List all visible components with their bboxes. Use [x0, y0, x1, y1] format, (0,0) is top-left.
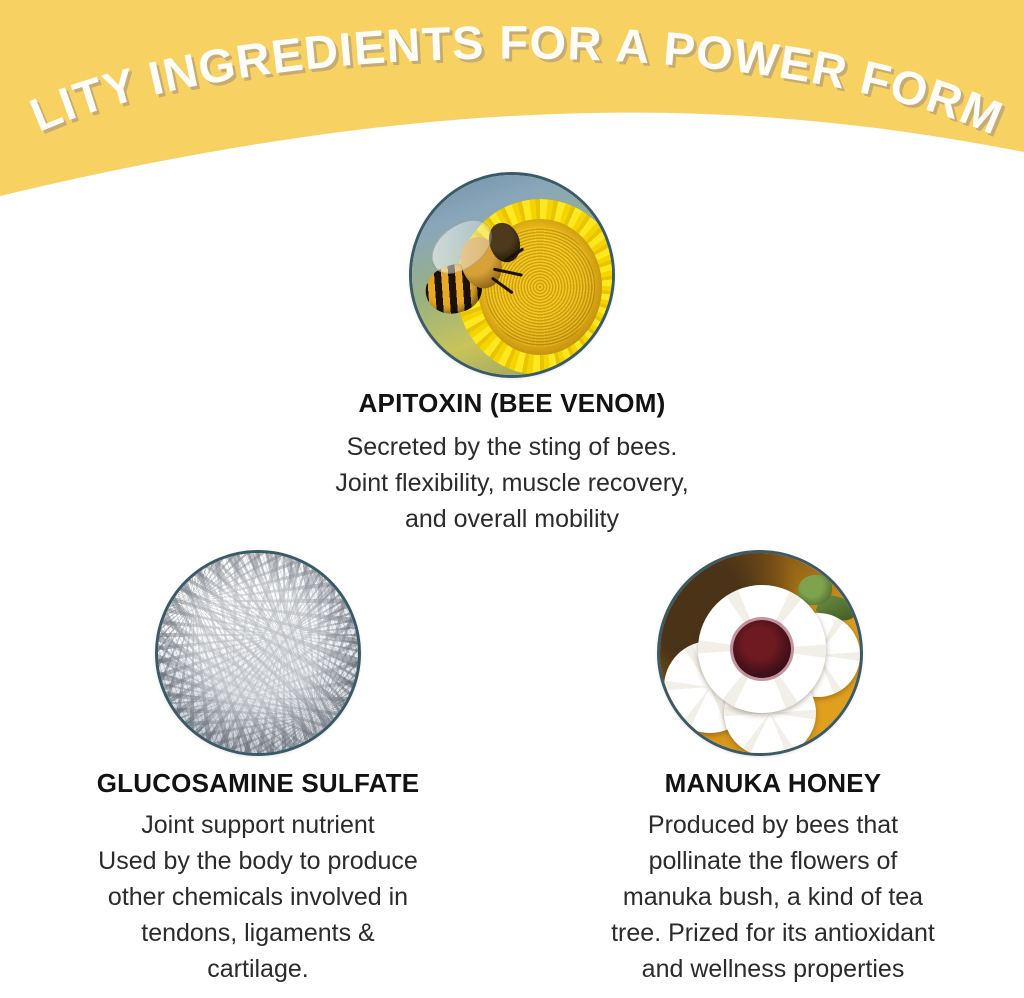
ingredients-infographic: QUALITY INGREDIENTS FOR A POWER FORMULA …: [0, 0, 1024, 998]
apitoxin-image-circle: [409, 172, 615, 378]
glucosamine-description: Joint support nutrient Used by the body …: [10, 807, 506, 987]
description-line: Joint support nutrient: [10, 807, 506, 843]
manuka-title: MANUKA HONEY: [525, 768, 1021, 799]
description-line: Joint flexibility, muscle recovery,: [262, 465, 762, 501]
description-line: tendons, ligaments &: [10, 915, 506, 951]
description-line: Produced by bees that: [525, 807, 1021, 843]
manuka-flower: [698, 585, 826, 713]
manuka-description: Produced by bees that pollinate the flow…: [525, 807, 1021, 987]
description-line: pollinate the flowers of: [525, 843, 1021, 879]
manuka-image-circle: [657, 550, 863, 756]
manuka-text-block: MANUKA HONEY Produced by bees that polli…: [525, 768, 1021, 987]
bee-on-yellow-flower-photo: [412, 175, 612, 375]
apitoxin-text-block: APITOXIN (BEE VENOM) Secreted by the sti…: [262, 388, 762, 537]
apitoxin-title: APITOXIN (BEE VENOM): [262, 388, 762, 419]
description-line: manuka bush, a kind of tea: [525, 879, 1021, 915]
glucosamine-title: GLUCOSAMINE SULFATE: [10, 768, 506, 799]
description-line: tree. Prized for its antioxidant: [525, 915, 1021, 951]
description-line: other chemicals involved in: [10, 879, 506, 915]
description-line: cartilage.: [10, 951, 506, 987]
description-line: and overall mobility: [262, 501, 762, 537]
white-powder-photo: [158, 553, 358, 753]
apitoxin-description: Secreted by the sting of bees. Joint fle…: [262, 429, 762, 537]
description-line: Secreted by the sting of bees.: [262, 429, 762, 465]
glucosamine-text-block: GLUCOSAMINE SULFATE Joint support nutrie…: [10, 768, 506, 987]
flower-core: [733, 620, 792, 679]
header-band-shape: [0, 0, 1024, 196]
manuka-flower-photo: [660, 553, 860, 753]
description-line: and wellness properties: [525, 951, 1021, 987]
description-line: Used by the body to produce: [10, 843, 506, 879]
glucosamine-image-circle: [155, 550, 361, 756]
